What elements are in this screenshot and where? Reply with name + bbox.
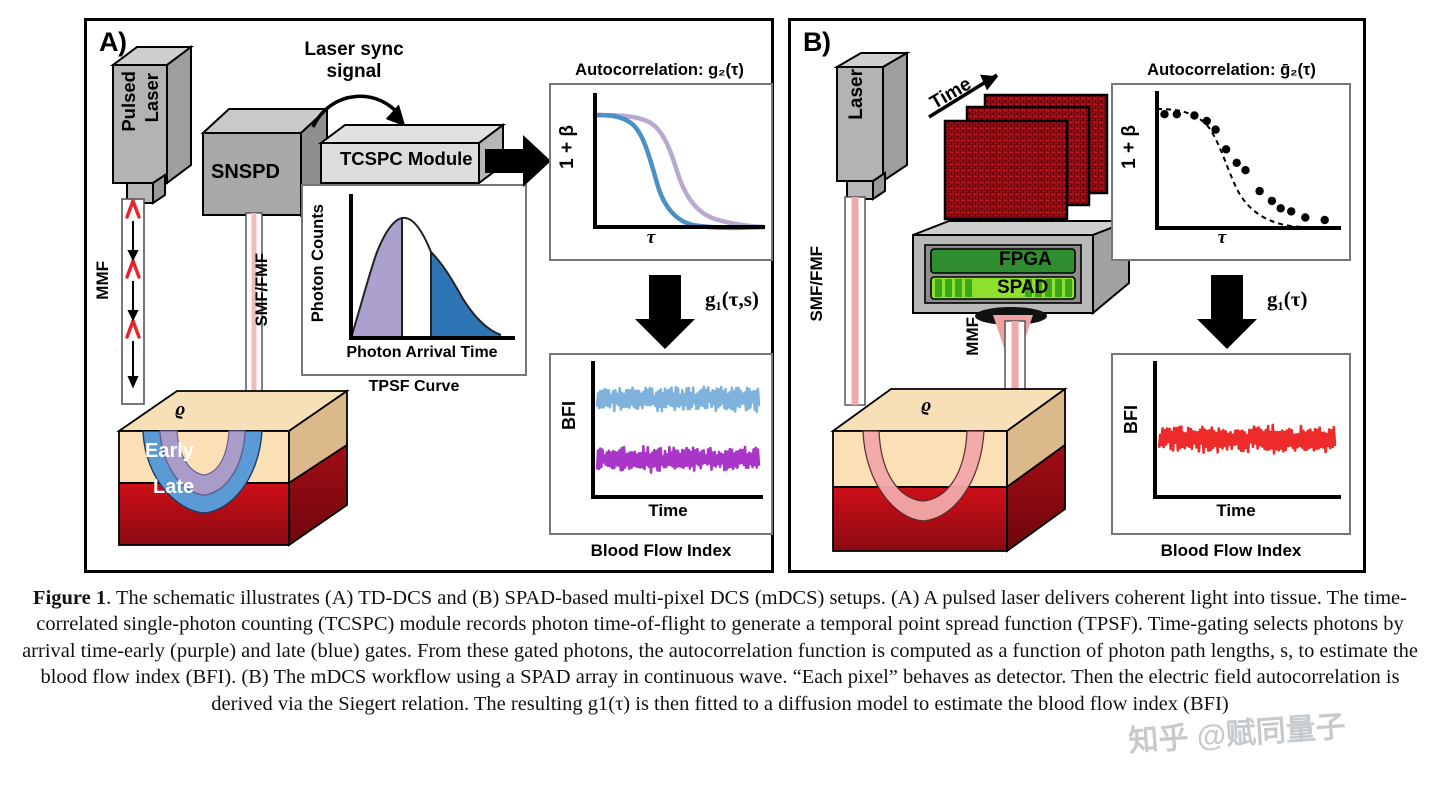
pulsed-laser-label: Pulsed xyxy=(119,71,139,132)
tissue-late-label: Late xyxy=(153,476,194,499)
autocorr-data-point xyxy=(1203,117,1211,125)
fpga-label: FPGA xyxy=(999,249,1052,271)
autocorr-a-x-label: τ xyxy=(591,227,711,249)
rho-label-b: ϱ xyxy=(921,395,931,417)
autocorr-a-y-label: 1 + β xyxy=(557,125,579,169)
laser-label-b: Laser xyxy=(846,69,868,120)
figure-caption-text: . The schematic illustrates (A) TD-DCS a… xyxy=(22,587,1418,715)
bfi-plot-b: BFI Time xyxy=(1111,353,1351,535)
arrow-to-bfi-b xyxy=(1195,273,1261,351)
mmf-fiber-b-label: MMF xyxy=(963,317,983,356)
spad-label: SPAD xyxy=(997,277,1048,299)
tissue-block-b xyxy=(811,373,1091,563)
snspd-label: SNSPD xyxy=(211,161,280,184)
bfi-a-y-label: BFI xyxy=(559,401,580,430)
tpsf-y-axis-label: Photon Counts xyxy=(309,204,328,322)
autocorr-data-point xyxy=(1173,110,1181,118)
tcspc-module-label: TCSPC Module xyxy=(340,148,473,170)
autocorr-data-point xyxy=(1190,111,1198,119)
smf-fmf-fiber-b-label: SMF/FMF xyxy=(807,246,827,322)
smf-fmf-fiber-label: SMF/FMF xyxy=(253,253,272,326)
arrow-to-bfi-a xyxy=(633,273,699,351)
bfi-b-x-label: Time xyxy=(1161,501,1311,521)
autocorr-a-title: Autocorrelation: g₂(τ) xyxy=(547,61,772,80)
autocorr-b-x-label: τ xyxy=(1157,227,1287,249)
figure-caption-label: Figure 1 xyxy=(33,587,106,609)
panel-b: B) Laser SMF/FMF xyxy=(788,18,1366,573)
mmf-source-fiber xyxy=(107,199,177,404)
tissue-block-a xyxy=(99,379,359,559)
autocorr-data-point xyxy=(1287,207,1295,215)
panel-b-tag: B) xyxy=(803,27,831,58)
arrow-to-autocorrelation-a xyxy=(483,133,555,193)
bfi-b-y-label: BFI xyxy=(1121,405,1142,434)
autocorr-b-y-label: 1 + β xyxy=(1119,125,1141,169)
tpsf-plot: Photon Counts Photon Arrival Time xyxy=(301,184,527,376)
rho-label-a: ϱ xyxy=(175,399,185,421)
figure-root: A) Pulsed Laser MMF xyxy=(0,0,1440,808)
g1-transform-label-a: g₁(τ,s) xyxy=(705,287,759,312)
tissue-early-label: Early xyxy=(145,440,194,463)
laser-sync-label: Laser sync signal xyxy=(269,39,439,83)
autocorr-data-point xyxy=(1211,125,1219,133)
bfi-b-caption: Blood Flow Index xyxy=(1111,541,1351,561)
autocorr-data-point xyxy=(1321,216,1329,224)
mmf-source-fiber-label: MMF xyxy=(93,261,113,300)
autocorr-data-point xyxy=(1222,145,1230,153)
pulsed-laser-label-2: Laser xyxy=(142,73,162,122)
autocorrelation-plot-a: 1 + β τ xyxy=(549,83,773,261)
bfi-a-x-label: Time xyxy=(593,501,743,521)
autocorr-b-title: Autocorrelation: ḡ₂(τ) xyxy=(1109,61,1354,80)
autocorr-data-point xyxy=(1241,166,1249,174)
figure-caption: Figure 1. The schematic illustrates (A) … xyxy=(18,585,1422,717)
autocorrelation-plot-b: 1 + β τ xyxy=(1111,83,1351,261)
panel-a: A) Pulsed Laser MMF xyxy=(84,18,774,573)
bfi-plot-a: BFI Time xyxy=(549,353,773,535)
bfi-a-caption: Blood Flow Index xyxy=(549,541,773,561)
autocorr-data-point xyxy=(1301,213,1309,221)
autocorr-data-point xyxy=(1268,197,1276,205)
autocorr-data-point xyxy=(1277,204,1285,212)
autocorr-data-point xyxy=(1233,159,1241,167)
autocorr-data-point xyxy=(1160,110,1168,118)
g1-transform-label-b: g₁(τ) xyxy=(1267,287,1307,312)
tpsf-x-axis-label: Photon Arrival Time xyxy=(327,344,517,362)
autocorr-data-point xyxy=(1255,187,1263,195)
